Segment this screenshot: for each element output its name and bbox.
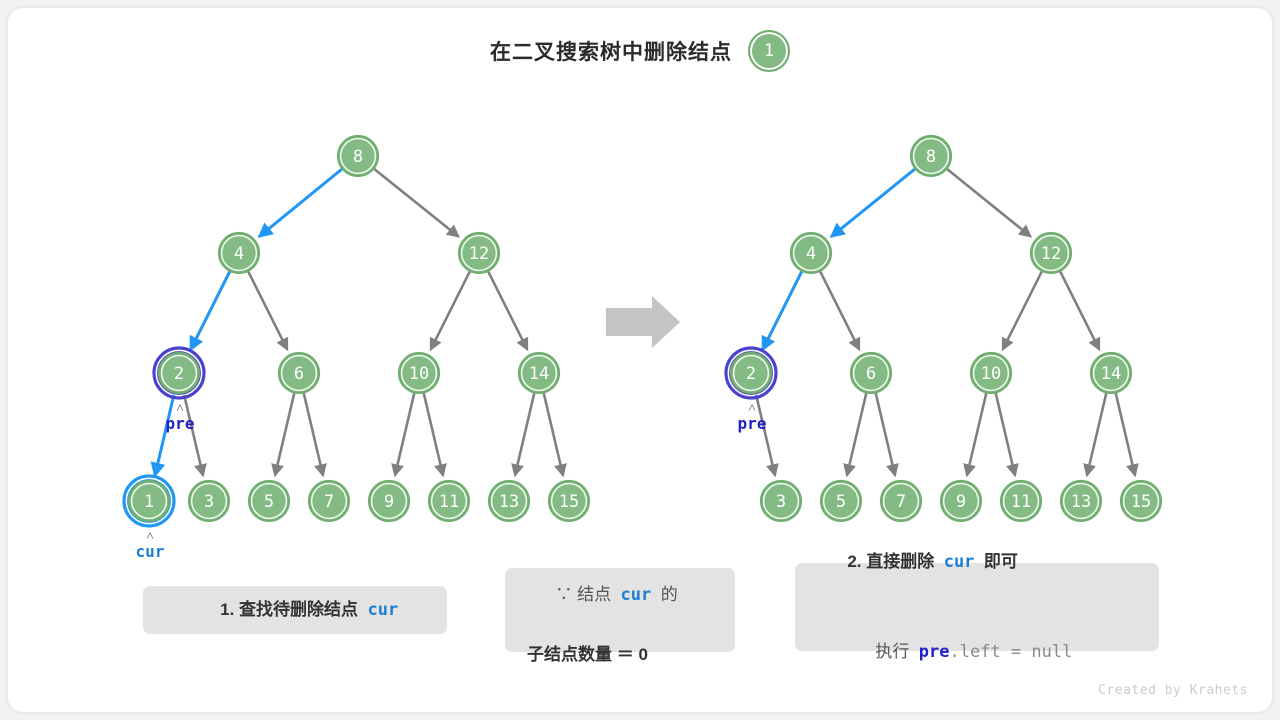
tree-node-label: 4 bbox=[234, 244, 244, 264]
tree-edge bbox=[395, 393, 414, 474]
tree-node: 6 bbox=[851, 353, 891, 393]
pre-pointer-after: ˄pre bbox=[712, 404, 792, 433]
tree-edge bbox=[304, 393, 323, 474]
tree-edge bbox=[847, 393, 866, 474]
tree-edge bbox=[515, 393, 534, 474]
tree-node-label: 12 bbox=[1041, 244, 1061, 264]
tree-node-label: 5 bbox=[264, 492, 274, 512]
tree-node-label: 3 bbox=[204, 492, 214, 512]
step2-line2-keyword: pre bbox=[919, 642, 950, 662]
reason-line2: 子结点数量 ＝ 0 bbox=[527, 640, 735, 670]
tree-node-label: 5 bbox=[836, 492, 846, 512]
tree-edge bbox=[967, 393, 986, 474]
tree-edge bbox=[996, 393, 1015, 474]
pre-pointer-before: ˄pre bbox=[140, 404, 220, 433]
tree-edge bbox=[1087, 393, 1106, 474]
tree-edge bbox=[260, 169, 342, 236]
edges-after bbox=[756, 169, 1135, 475]
pointer-caret-icon: ˄ bbox=[110, 532, 190, 542]
tree-edge bbox=[1060, 272, 1099, 349]
tree-node: 7 bbox=[881, 481, 921, 521]
reason-line1-suffix: 的 bbox=[661, 585, 678, 604]
tree-node-label: 14 bbox=[1101, 364, 1121, 384]
tree-edge bbox=[876, 393, 895, 474]
tree-node: 15 bbox=[1121, 481, 1161, 521]
tree-node-label: 15 bbox=[559, 492, 579, 512]
tree-edge bbox=[544, 393, 563, 474]
tree-node: 13 bbox=[489, 481, 529, 521]
tree-node-label: 1 bbox=[144, 492, 154, 512]
step2-line1-suffix: 即可 bbox=[984, 552, 1018, 571]
caption-reason: ∵ 结点 cur 的 子结点数量 ＝ 0 bbox=[505, 568, 735, 652]
step2-line2-code: .left = null bbox=[950, 642, 1073, 662]
pointer-caret-icon: ˄ bbox=[712, 404, 792, 414]
tree-node-label: 14 bbox=[529, 364, 549, 384]
step2-line1-keyword: cur bbox=[944, 552, 975, 572]
tree-node: 14 bbox=[1091, 353, 1131, 393]
tree-edge bbox=[1116, 393, 1135, 474]
tree-node-label: 7 bbox=[896, 492, 906, 512]
tree-node: 15 bbox=[549, 481, 589, 521]
reason-line1-prefix: ∵ 结点 bbox=[555, 585, 611, 604]
tree-node-label: 7 bbox=[324, 492, 334, 512]
tree-node: 8 bbox=[911, 136, 951, 176]
tree-node-label: 13 bbox=[499, 492, 519, 512]
nodes-after: 84122610143579111315 bbox=[726, 136, 1161, 521]
footer-credit: Created by Krahets bbox=[1098, 683, 1248, 698]
tree-edge bbox=[763, 272, 802, 349]
tree-edge bbox=[374, 169, 458, 236]
tree-node: 2 bbox=[726, 348, 776, 398]
tree-node: 8 bbox=[338, 136, 378, 176]
tree-node: 10 bbox=[971, 353, 1011, 393]
tree-node-label: 10 bbox=[409, 364, 429, 384]
tree-node-label: 11 bbox=[439, 492, 459, 512]
tree-node-label: 10 bbox=[981, 364, 1001, 384]
tree-node: 4 bbox=[219, 233, 259, 273]
tree-node-label: 2 bbox=[746, 364, 756, 384]
caption-step-2: 2. 直接删除 cur 即可 执行 pre.left = null bbox=[795, 563, 1159, 651]
pointer-label-text: cur bbox=[136, 542, 165, 561]
tree-node-label: 11 bbox=[1011, 492, 1031, 512]
tree-node: 5 bbox=[249, 481, 289, 521]
tree-node-label: 13 bbox=[1071, 492, 1091, 512]
tree-node-label: 15 bbox=[1131, 492, 1151, 512]
step1-keyword: cur bbox=[367, 600, 398, 620]
tree-node: 9 bbox=[941, 481, 981, 521]
tree-node-label: 8 bbox=[353, 147, 363, 167]
tree-node: 10 bbox=[399, 353, 439, 393]
tree-node: 11 bbox=[429, 481, 469, 521]
tree-edge bbox=[275, 393, 294, 474]
tree-node: 9 bbox=[369, 481, 409, 521]
tree-node-label: 2 bbox=[174, 364, 184, 384]
tree-node: 1 bbox=[124, 476, 174, 526]
diagram-canvas: 在二叉搜索树中删除结点 1 841226101413579111315 8412… bbox=[0, 0, 1280, 720]
tree-edge bbox=[820, 272, 859, 349]
tree-node: 3 bbox=[761, 481, 801, 521]
step2-line2-prefix: 执行 bbox=[875, 642, 909, 661]
tree-node: 5 bbox=[821, 481, 861, 521]
tree-edge bbox=[191, 272, 230, 349]
tree-edge bbox=[431, 272, 470, 349]
tree-node: 4 bbox=[791, 233, 831, 273]
tree-edge bbox=[1003, 272, 1042, 349]
tree-node: 12 bbox=[459, 233, 499, 273]
tree-node: 6 bbox=[279, 353, 319, 393]
tree-node-label: 9 bbox=[384, 492, 394, 512]
tree-node-label: 8 bbox=[926, 147, 936, 167]
tree-node-label: 6 bbox=[294, 364, 304, 384]
tree-node-label: 6 bbox=[866, 364, 876, 384]
tree-edge bbox=[488, 272, 527, 349]
tree-node: 2 bbox=[154, 348, 204, 398]
cur-pointer-before: ˄cur bbox=[110, 532, 190, 561]
tree-node: 12 bbox=[1031, 233, 1071, 273]
step2-line1-prefix: 2. 直接删除 bbox=[847, 552, 934, 571]
tree-edge bbox=[424, 393, 443, 474]
pointer-caret-icon: ˄ bbox=[140, 404, 220, 414]
pointer-label-text: pre bbox=[166, 414, 195, 433]
tree-node: 3 bbox=[189, 481, 229, 521]
tree-node-label: 9 bbox=[956, 492, 966, 512]
tree-node-label: 4 bbox=[806, 244, 816, 264]
caption-step-1: 1. 查找待删除结点 cur bbox=[143, 586, 447, 634]
tree-edge bbox=[947, 169, 1030, 236]
right-block-arrow-icon bbox=[606, 296, 680, 348]
tree-node: 11 bbox=[1001, 481, 1041, 521]
tree-node-label: 12 bbox=[469, 244, 489, 264]
tree-node-label: 3 bbox=[776, 492, 786, 512]
step1-prefix: 1. 查找待删除结点 bbox=[220, 600, 358, 619]
tree-node: 14 bbox=[519, 353, 559, 393]
reason-line1-keyword: cur bbox=[621, 585, 652, 605]
tree-edge bbox=[832, 169, 915, 236]
tree-edge bbox=[248, 272, 287, 349]
tree-node: 7 bbox=[309, 481, 349, 521]
tree-node: 13 bbox=[1061, 481, 1101, 521]
pointer-label-text: pre bbox=[738, 414, 767, 433]
